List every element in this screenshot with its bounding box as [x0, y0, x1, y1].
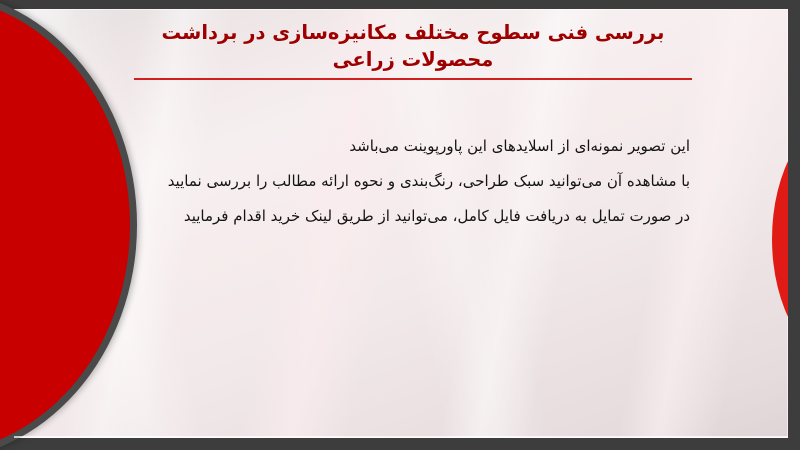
title-underline-rule	[134, 78, 692, 80]
slide-body-line-3: در صورت تمایل به دریافت فایل کامل، می‌تو…	[164, 199, 690, 234]
slide-body-line-2: با مشاهده آن می‌توانید سبک طراحی، رنگ‌بن…	[164, 164, 690, 199]
slide-body-line-1: این تصویر نمونه‌ای از اسلایدهای این پاور…	[164, 129, 690, 164]
slide-canvas: بررسی فنی سطوح مختلف مکانیزه‌سازی در برد…	[0, 0, 800, 450]
slide-title-block: بررسی فنی سطوح مختلف مکانیزه‌سازی در برد…	[134, 19, 692, 80]
slide-panel: بررسی فنی سطوح مختلف مکانیزه‌سازی در برد…	[14, 9, 788, 438]
slide-body-block: این تصویر نمونه‌ای از اسلایدهای این پاور…	[164, 129, 690, 234]
slide-title-line-2: محصولات زراعی	[134, 46, 692, 73]
decorative-red-disc-right	[772, 113, 788, 365]
slide-title-line-1: بررسی فنی سطوح مختلف مکانیزه‌سازی در برد…	[134, 19, 692, 46]
panel-bottom-highlight	[14, 436, 788, 438]
